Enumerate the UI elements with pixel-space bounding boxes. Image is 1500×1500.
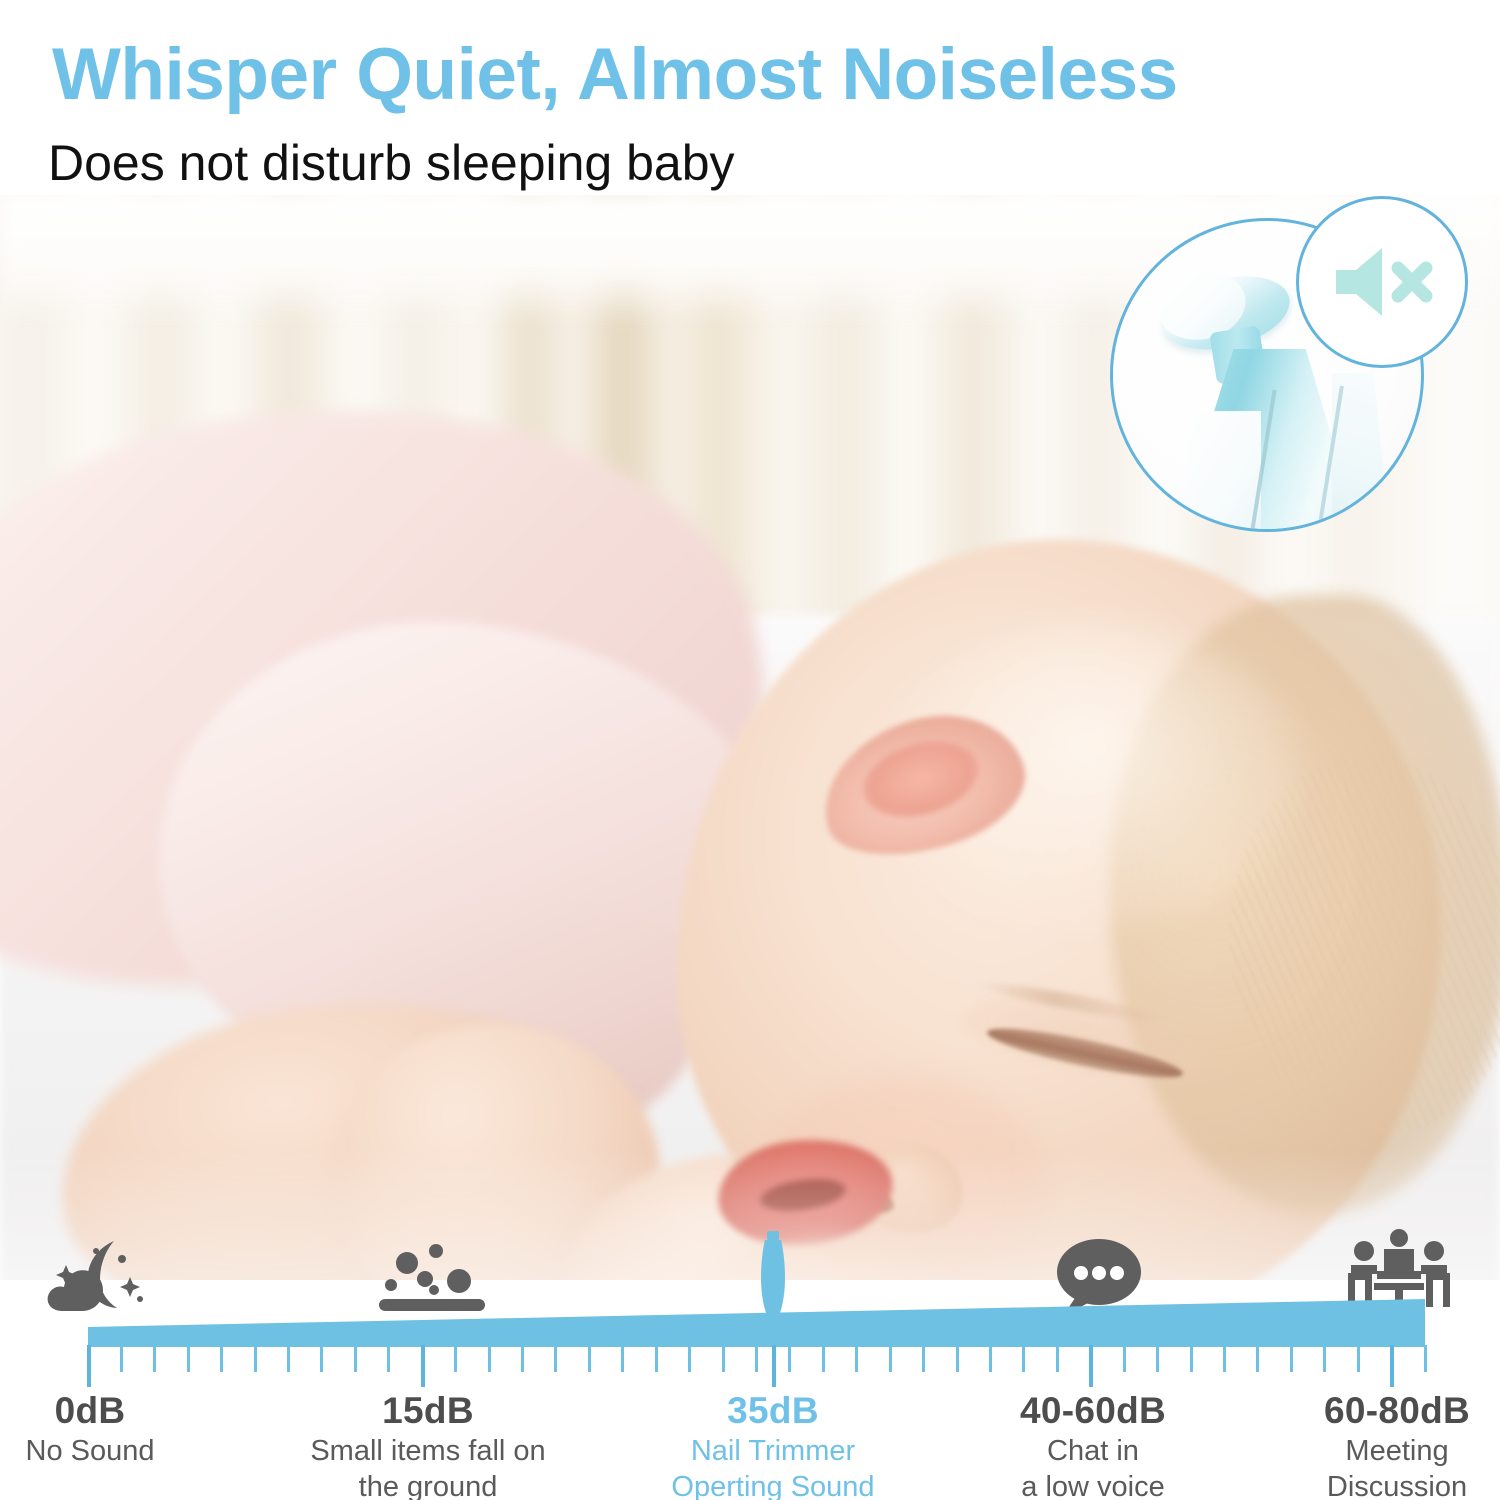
scale-stop-0: 0dBNo Sound <box>26 1390 155 1468</box>
trimmer-body-highlight-left <box>1175 411 1261 532</box>
scale-tick-minor <box>1256 1345 1259 1372</box>
scale-tick-minor <box>722 1345 725 1372</box>
scale-ticks <box>0 1345 1500 1387</box>
scale-stop-db-value: 0dB <box>26 1390 155 1432</box>
scale-stop-description: Nail Trimmer <box>671 1435 874 1468</box>
scale-tick-minor <box>1056 1345 1059 1372</box>
scale-tick-minor <box>1290 1345 1293 1372</box>
scale-tick-major <box>1390 1345 1394 1387</box>
scale-wedge-bar <box>0 1289 1500 1349</box>
scale-stop-3: 40-60dBChat ina low voice <box>1020 1390 1166 1500</box>
scale-tick-minor <box>755 1345 758 1372</box>
scale-tick-minor <box>655 1345 658 1372</box>
scale-tick-minor <box>187 1345 190 1372</box>
headline: Whisper Quiet, Almost Noiseless <box>52 38 1178 111</box>
scale-tick-minor <box>989 1345 992 1372</box>
scale-tick-minor <box>354 1345 357 1372</box>
scale-stop-description: Operting Sound <box>671 1471 874 1500</box>
scale-tick-minor <box>521 1345 524 1372</box>
scale-stop-description: No Sound <box>26 1435 155 1468</box>
scale-tick-minor <box>120 1345 123 1372</box>
scale-tick-minor <box>956 1345 959 1372</box>
scale-stop-description: a low voice <box>1020 1471 1166 1500</box>
scale-stop-db-value: 35dB <box>671 1390 874 1432</box>
scale-tick-minor <box>788 1345 791 1372</box>
scale-tick-minor <box>153 1345 156 1372</box>
scale-tick-minor <box>621 1345 624 1372</box>
scale-stop-db-value: 15dB <box>310 1390 545 1432</box>
scale-stop-description: Meeting <box>1324 1435 1470 1468</box>
scale-stop-description: Small items fall on <box>310 1435 545 1468</box>
scale-tick-minor <box>554 1345 557 1372</box>
scale-stop-description: Chat in <box>1020 1435 1166 1468</box>
scale-stop-db-value: 60-80dB <box>1324 1390 1470 1432</box>
scale-tick-minor <box>1156 1345 1159 1372</box>
scale-stop-db-value: 40-60dB <box>1020 1390 1166 1432</box>
scale-tick-minor <box>287 1345 290 1372</box>
scale-tick-minor <box>488 1345 491 1372</box>
subheadline: Does not disturb sleeping baby <box>48 138 735 188</box>
scale-tick-minor <box>588 1345 591 1372</box>
scale-tick-minor <box>254 1345 257 1372</box>
scale-tick-minor <box>1123 1345 1126 1372</box>
scale-tick-minor <box>822 1345 825 1372</box>
scale-tick-minor <box>889 1345 892 1372</box>
scale-stop-1: 15dBSmall items fall onthe ground <box>310 1390 545 1500</box>
scale-tick-major <box>87 1345 91 1387</box>
scale-tick-minor <box>320 1345 323 1372</box>
noise-level-scale: 0dBNo Sound15dBSmall items fall onthe gr… <box>0 1225 1500 1500</box>
scale-tick-minor <box>1223 1345 1226 1372</box>
scale-tick-minor <box>1323 1345 1326 1372</box>
scale-stop-description: the ground <box>310 1471 545 1500</box>
scale-tick-major <box>1089 1345 1093 1387</box>
scale-tick-minor <box>220 1345 223 1372</box>
scale-tick-minor <box>688 1345 691 1372</box>
scale-tick-minor <box>1424 1345 1427 1372</box>
scale-tick-minor <box>1022 1345 1025 1372</box>
product-inset <box>1110 196 1462 526</box>
scale-tick-major <box>772 1345 776 1387</box>
scale-tick-major <box>421 1345 425 1387</box>
product-feature-card: Whisper Quiet, Almost Noiseless Does not… <box>0 0 1500 1500</box>
scale-stop-description: Discussion <box>1324 1471 1470 1500</box>
scale-tick-minor <box>454 1345 457 1372</box>
scale-tick-minor <box>387 1345 390 1372</box>
mute-speaker-icon <box>1296 196 1468 368</box>
scale-tick-minor <box>855 1345 858 1372</box>
scale-stop-2: 35dBNail TrimmerOperting Sound <box>671 1390 874 1500</box>
scale-tick-minor <box>1190 1345 1193 1372</box>
scale-stop-4: 60-80dBMeetingDiscussion <box>1324 1390 1470 1500</box>
scale-tick-minor <box>922 1345 925 1372</box>
scale-tick-minor <box>1357 1345 1360 1372</box>
scale-labels: 0dBNo Sound15dBSmall items fall onthe gr… <box>0 1390 1500 1500</box>
